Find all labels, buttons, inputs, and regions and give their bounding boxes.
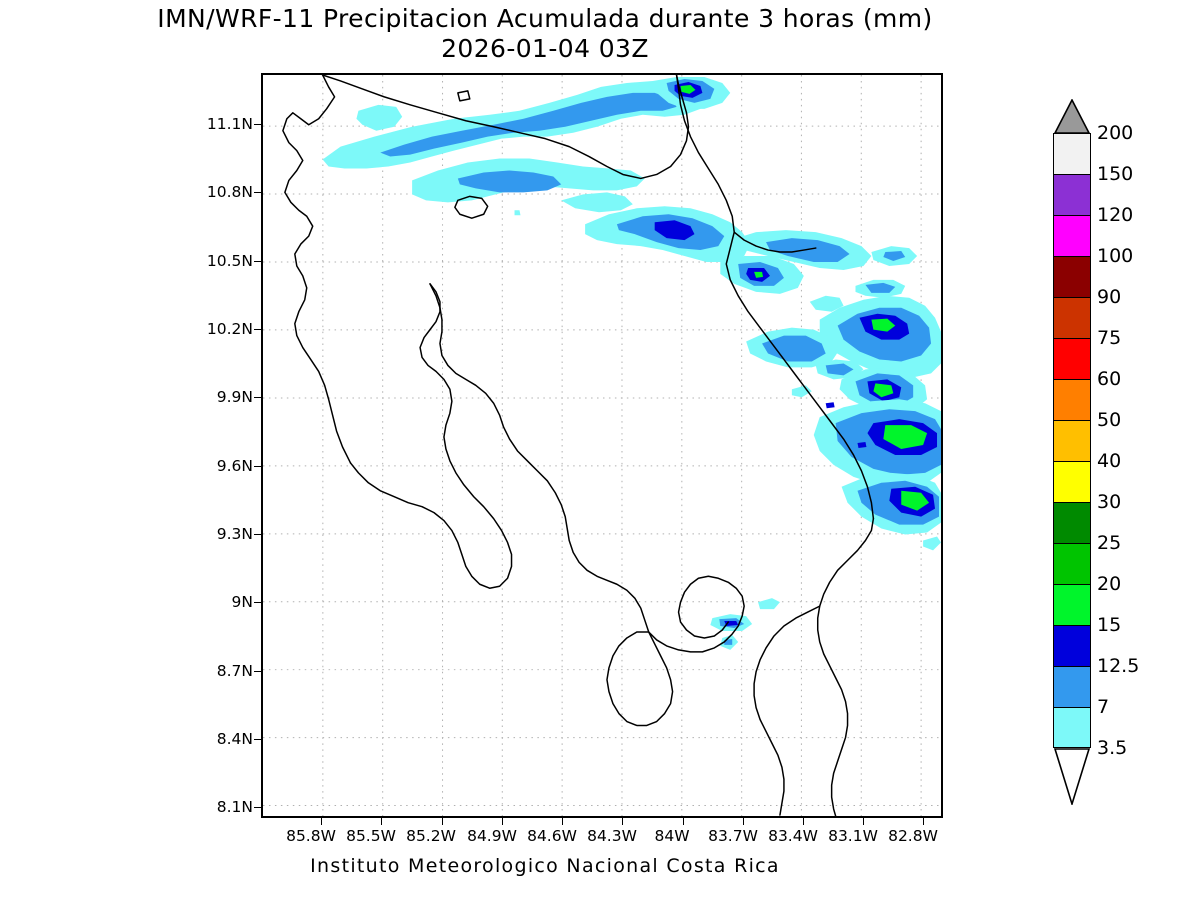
colorbar-band-120[interactable]: [1053, 215, 1091, 256]
colorbar-label: 12.5: [1097, 655, 1139, 677]
colorbar-label: 40: [1097, 450, 1121, 472]
colorbar-band-40[interactable]: [1053, 461, 1091, 502]
coastline-borders: [263, 75, 941, 816]
x-tick-label: 84.3W: [587, 827, 637, 845]
colorbar-label: 30: [1097, 491, 1121, 513]
colorbar-band-12p5[interactable]: [1053, 666, 1091, 707]
y-tick-label: 8.1N: [205, 798, 253, 816]
x-tick: [381, 818, 382, 825]
colorbar-bottom-arrow: [1053, 748, 1091, 805]
chart-title-block: IMN/WRF-11 Precipitacion Acumulada duran…: [0, 4, 1090, 64]
x-tick-label: 85.5W: [346, 827, 396, 845]
colorbar-label: 75: [1097, 327, 1121, 349]
colorbar-band-75[interactable]: [1053, 338, 1091, 379]
colorbar-band-30[interactable]: [1053, 502, 1091, 543]
x-tick-label: 83.7W: [708, 827, 758, 845]
colorbar-band-25[interactable]: [1053, 543, 1091, 584]
x-tick-label: 85.8W: [286, 827, 336, 845]
y-tick-label: 9.6N: [205, 457, 253, 475]
page-title: IMN/WRF-11 Precipitacion Acumulada duran…: [0, 4, 1090, 34]
colorbar-band-200[interactable]: [1053, 133, 1091, 174]
x-tick: [863, 818, 864, 825]
chart-subtitle: 2026-01-04 03Z: [0, 34, 1090, 64]
x-tick-label: 84.6W: [527, 827, 577, 845]
x-tick: [923, 818, 924, 825]
x-tick: [321, 818, 322, 825]
colorbar-band-7[interactable]: [1053, 707, 1091, 748]
footer-credit: Instituto Meteorologico Nacional Costa R…: [0, 855, 1090, 877]
map-plot-area: [261, 73, 943, 818]
colorbar-label: 3.5: [1097, 737, 1127, 759]
y-tick-label: 10.5N: [205, 252, 253, 270]
y-tick-label: 8.7N: [205, 662, 253, 680]
x-tick: [442, 818, 443, 825]
y-tick-label: 9.3N: [205, 525, 253, 543]
colorbar-label: 100: [1097, 245, 1133, 267]
colorbar-legend[interactable]: 200 150 120 100 90 75 60 50 40 30 25 20 …: [1053, 99, 1091, 805]
y-tick-label: 9N: [205, 593, 253, 611]
x-tick-label: 84W: [654, 827, 689, 845]
colorbar-top-arrow: [1053, 99, 1091, 134]
colorbar-band-150[interactable]: [1053, 174, 1091, 215]
colorbar-band-100[interactable]: [1053, 256, 1091, 297]
x-tick-label: 84.9W: [467, 827, 517, 845]
colorbar-label: 25: [1097, 532, 1121, 554]
colorbar-label: 90: [1097, 286, 1121, 308]
colorbar-label: 50: [1097, 409, 1121, 431]
y-tick-label: 11.1N: [205, 115, 253, 133]
colorbar-label: 7: [1097, 696, 1109, 718]
x-tick: [743, 818, 744, 825]
x-tick: [683, 818, 684, 825]
x-tick: [622, 818, 623, 825]
colorbar-band-15[interactable]: [1053, 625, 1091, 666]
x-tick-label: 85.2W: [406, 827, 456, 845]
x-tick: [502, 818, 503, 825]
x-tick: [562, 818, 563, 825]
y-tick-label: 8.4N: [205, 730, 253, 748]
colorbar-band-50[interactable]: [1053, 420, 1091, 461]
colorbar-label: 200: [1097, 122, 1133, 144]
colorbar-label: 20: [1097, 573, 1121, 595]
colorbar-label: 15: [1097, 614, 1121, 636]
colorbar-label: 150: [1097, 163, 1133, 185]
colorbar-band-60[interactable]: [1053, 379, 1091, 420]
colorbar-band-20[interactable]: [1053, 584, 1091, 625]
x-tick-label: 82.8W: [888, 827, 938, 845]
x-tick-label: 83.4W: [768, 827, 818, 845]
x-tick-label: 83.1W: [828, 827, 878, 845]
colorbar-band-90[interactable]: [1053, 297, 1091, 338]
x-tick: [803, 818, 804, 825]
y-tick-label: 9.9N: [205, 388, 253, 406]
colorbar-label: 120: [1097, 204, 1133, 226]
y-tick-label: 10.8N: [205, 183, 253, 201]
y-tick-label: 10.2N: [205, 320, 253, 338]
colorbar-label: 60: [1097, 368, 1121, 390]
